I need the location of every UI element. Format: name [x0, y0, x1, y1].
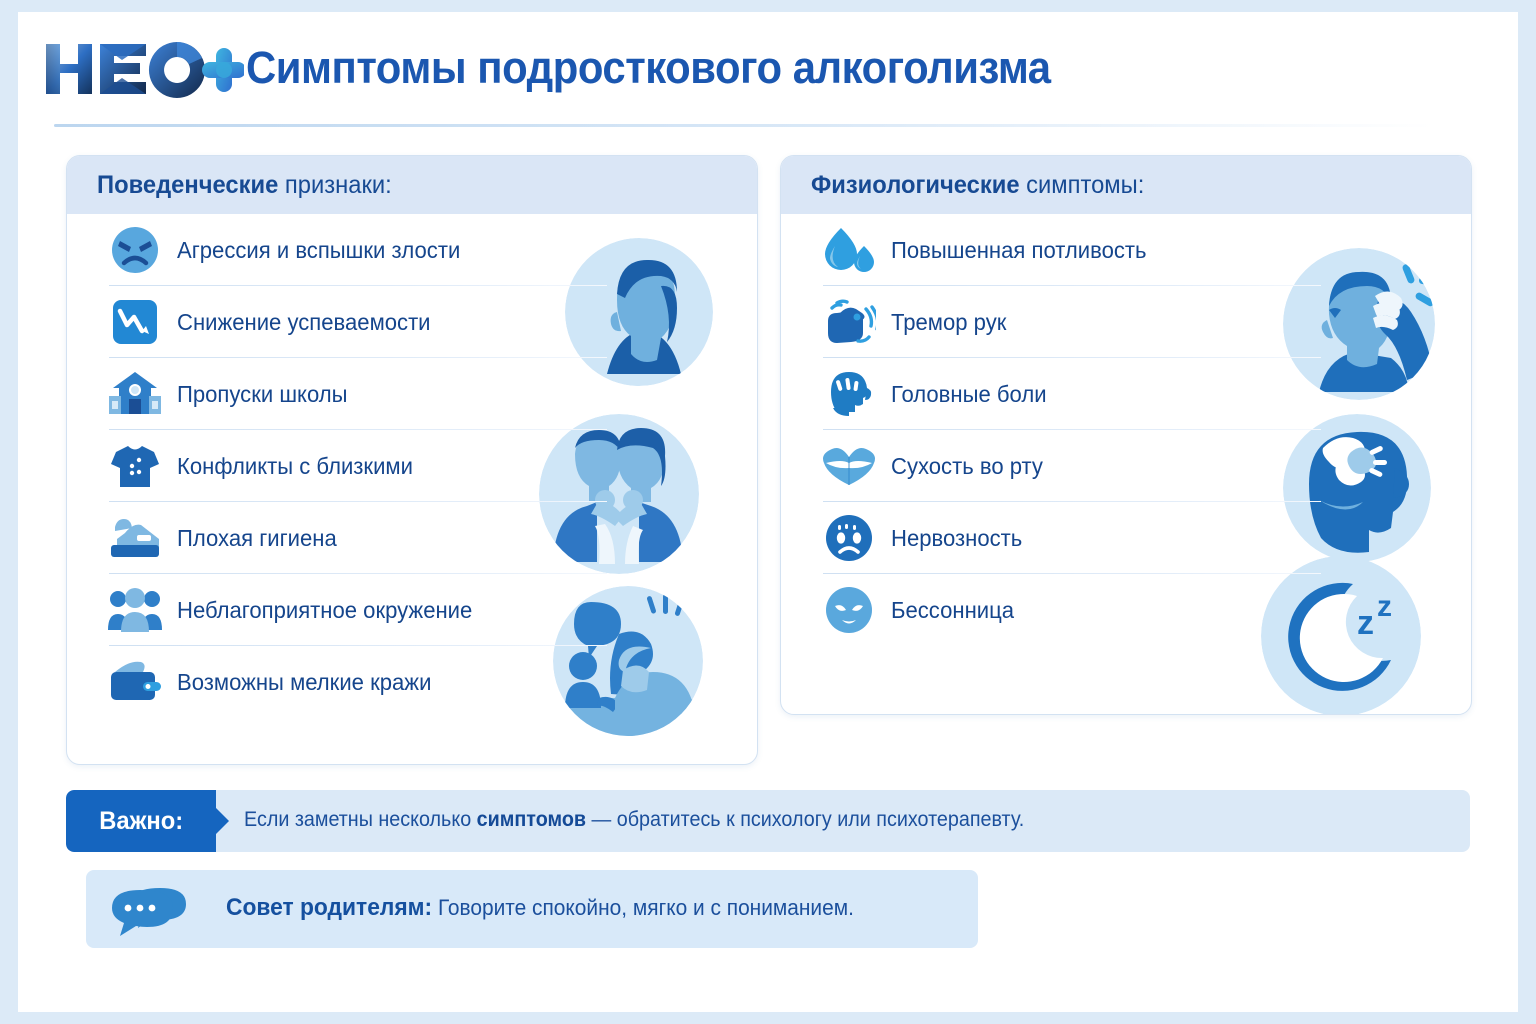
page-title: Симптомы подросткового алкоголизма [246, 42, 1051, 94]
list-item-label: Конфликты с близкими [177, 453, 413, 480]
list-item[interactable]: Повышенная потливость [781, 214, 1471, 286]
infographic-page: Симптомы подросткового алкоголизма Повед… [18, 12, 1518, 1012]
list-item[interactable]: Снижение успеваемости [67, 286, 757, 358]
list-item-label: Сухость во рту [891, 453, 1043, 480]
behavioral-items-list: Агрессия и вспышки злости Снижение успев… [67, 214, 757, 718]
important-arrow-icon [216, 808, 229, 834]
list-item-label: Бессонница [891, 597, 1014, 624]
list-item-label: Возможны мелкие кражи [177, 669, 431, 696]
physiological-symptoms-card: Физиологические симптомы: [780, 155, 1472, 715]
parents-tip-body: Говорите спокойно, мягко и с пониманием. [432, 895, 854, 920]
list-item[interactable]: Агрессия и вспышки злости [67, 214, 757, 286]
list-item-label: Агрессия и вспышки злости [177, 237, 460, 264]
parents-tip-title: Совет родителям: [226, 894, 432, 921]
page-header: Симптомы подросткового алкоголизма [18, 12, 1518, 130]
list-item[interactable]: Головные боли [781, 358, 1471, 430]
lips-icon [821, 438, 877, 494]
angry-face-icon [107, 222, 163, 278]
important-text-after: — обратитесь к психологу или психотерапе… [586, 808, 1024, 831]
list-item[interactable]: Сухость во рту [781, 430, 1471, 502]
important-text: Если заметны несколько симптомов — обрат… [244, 808, 1380, 832]
parents-tip-text: Совет родителям: Говорите спокойно, мягк… [226, 894, 854, 922]
list-item-label: Повышенная потливость [891, 237, 1147, 264]
behavioral-card-title-strong: Поведенческие [97, 171, 278, 199]
neo-plus-logo [44, 38, 244, 100]
physiological-card-title-strong: Физиологические [811, 171, 1020, 199]
list-item[interactable]: Возможны мелкие кражи [67, 646, 757, 718]
tshirt-icon [107, 438, 163, 494]
group-people-icon [107, 582, 163, 638]
wallet-icon [107, 654, 163, 710]
list-item-label: Неблагоприятное окружение [177, 597, 472, 624]
list-item[interactable]: Неблагоприятное окружение [67, 574, 757, 646]
important-tag: Важно: [66, 790, 216, 852]
important-text-before: Если заметны несколько [244, 808, 477, 831]
shaking-hand-icon [821, 294, 877, 350]
list-item[interactable]: Бессонница [781, 574, 1471, 646]
list-item-label: Тремор рук [891, 309, 1006, 336]
falling-chart-icon [107, 294, 163, 350]
school-icon [107, 366, 163, 422]
list-item[interactable]: Плохая гигиена [67, 502, 757, 574]
list-item-label: Плохая гигиена [177, 525, 337, 552]
physiological-items-list: Повышенная потливость [781, 214, 1471, 646]
behavioral-card-title: Поведенческие признаки: [97, 171, 392, 200]
list-item[interactable]: Нервозность [781, 502, 1471, 574]
behavioral-card-header: Поведенческие признаки: [67, 156, 757, 214]
list-item-label: Снижение успеваемости [177, 309, 431, 336]
water-drops-icon [821, 222, 877, 278]
physiological-card-title: Физиологические симптомы: [811, 171, 1144, 200]
list-item[interactable]: Пропуски школы [67, 358, 757, 430]
important-banner: Важно: Если заметны несколько симптомов … [66, 790, 1470, 852]
header-divider [54, 124, 1434, 127]
list-item-label: Головные боли [891, 381, 1047, 408]
behavioral-card-title-light: признаки: [278, 171, 391, 199]
soap-icon [107, 510, 163, 566]
list-item[interactable]: Тремор рук [781, 286, 1471, 358]
parents-tip-banner: Совет родителям: Говорите спокойно, мягк… [86, 870, 978, 948]
speech-bubbles-icon [110, 884, 210, 936]
head-pain-icon [821, 366, 877, 422]
physiological-card-header: Физиологические симптомы: [781, 156, 1471, 214]
list-item-label: Пропуски школы [177, 381, 348, 408]
important-tag-label: Важно: [99, 807, 183, 836]
important-text-bold: симптомов [477, 808, 586, 831]
physiological-card-title-light: симптомы: [1020, 171, 1145, 199]
worried-face-icon [821, 510, 877, 566]
sleepy-face-icon [821, 582, 877, 638]
list-item[interactable]: Конфликты с близкими [67, 430, 757, 502]
list-item-label: Нервозность [891, 525, 1022, 552]
behavioral-signs-card: Поведенческие признаки: [66, 155, 758, 765]
